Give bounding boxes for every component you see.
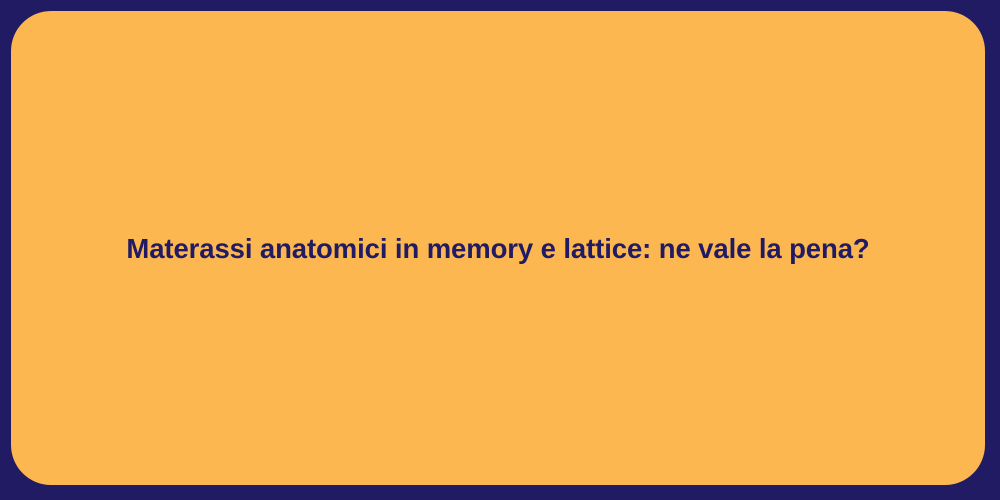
banner-frame: Materassi anatomici in memory e lattice:… (0, 0, 1000, 500)
banner-panel: Materassi anatomici in memory e lattice:… (11, 11, 985, 485)
page-title: Materassi anatomici in memory e lattice:… (11, 232, 985, 266)
